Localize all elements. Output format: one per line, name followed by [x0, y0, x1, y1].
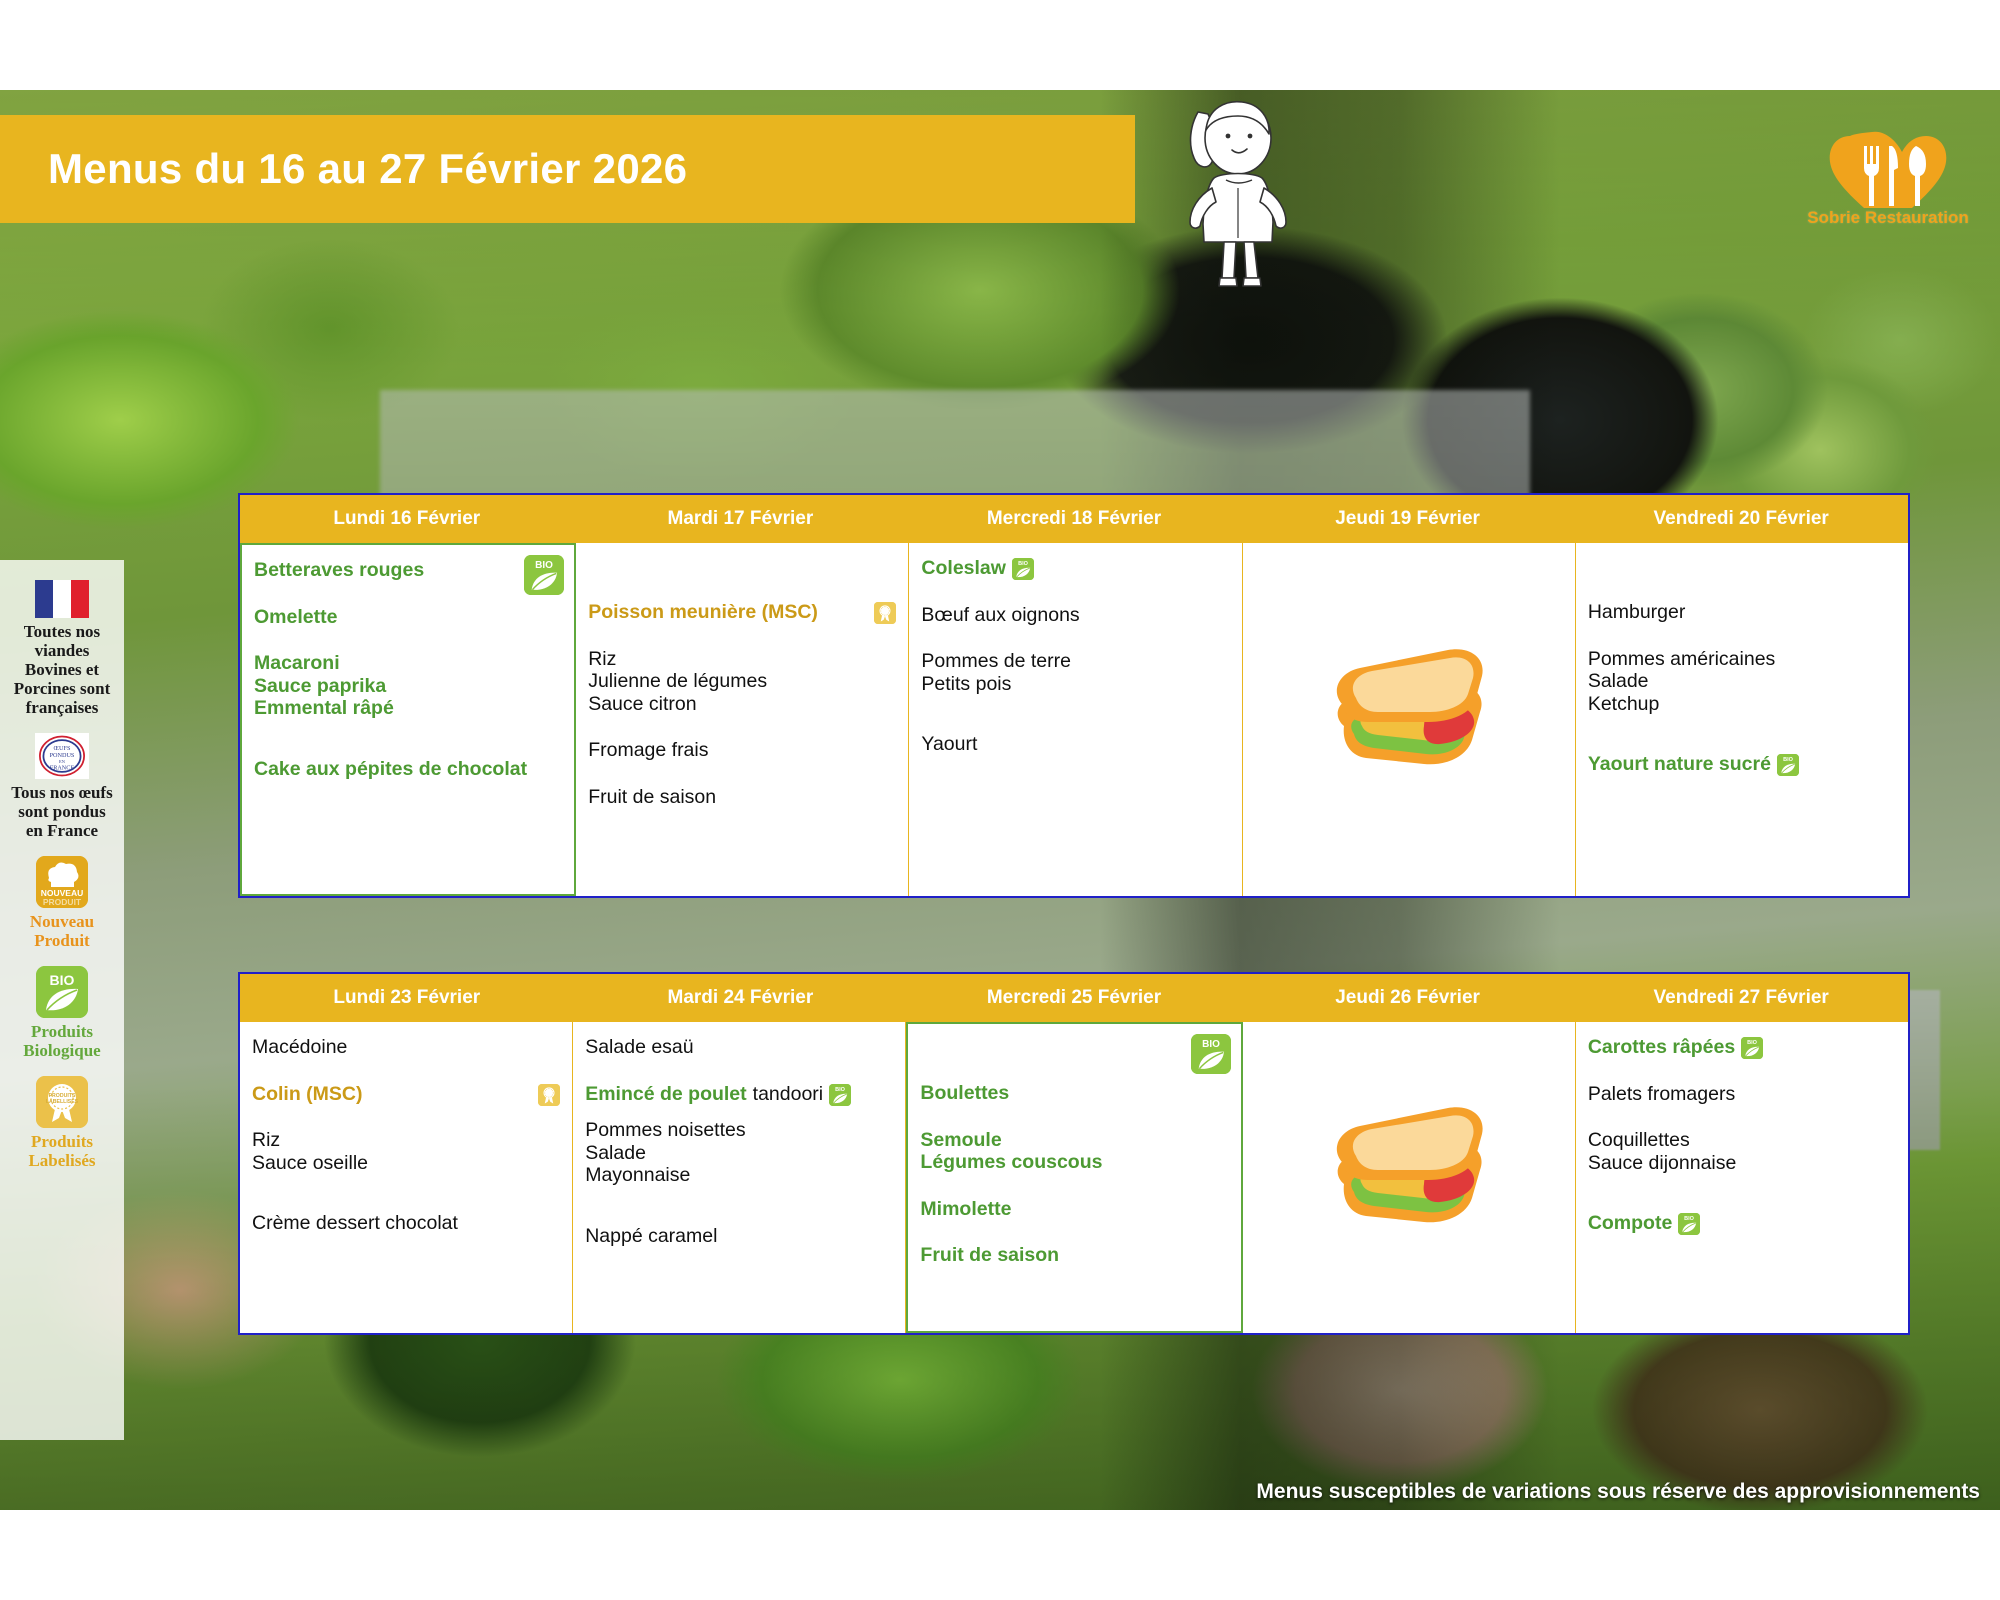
- spacer: [1588, 1059, 1896, 1083]
- menu-item: Yaourt nature sucréBIO: [1588, 753, 1896, 776]
- menu-item: Légumes couscous: [920, 1151, 1228, 1174]
- french-flag-icon: [35, 580, 89, 618]
- sidebar-caption-new-product: Nouveau Produit: [0, 908, 124, 950]
- spacer: [252, 1174, 560, 1212]
- spacer: [585, 1105, 893, 1119]
- day-column-2[interactable]: Poisson meunière (MSC)RizJulienne de lég…: [576, 543, 909, 896]
- menu-item-label: Sauce paprika: [254, 675, 386, 698]
- spacer: [1588, 624, 1896, 648]
- menu-item-label: Boulettes: [920, 1082, 1009, 1105]
- menu-item: Fromage frais: [588, 739, 896, 762]
- menu-item-label: Cake aux pépites de chocolat: [254, 758, 527, 781]
- menu-item: Julienne de légumes: [588, 670, 896, 693]
- sidebar-block-labelled: PRODUITS LABELLISÉS Produits Labelisés: [0, 1076, 124, 1170]
- menu-item: Sauce oseille: [252, 1152, 560, 1175]
- sidebar-block-new-product: NOUVEAU PRODUIT Nouveau Produit: [0, 856, 124, 950]
- menu-item-label: Riz: [588, 648, 616, 671]
- spacer: [254, 720, 562, 758]
- spacer: [588, 715, 896, 739]
- menu-item-label: Semoule: [920, 1129, 1001, 1152]
- spacer: [585, 1187, 893, 1225]
- labelled-products-badge-icon: [874, 602, 896, 624]
- menu-item-label: Salade esaü: [585, 1036, 693, 1059]
- menu-item: Bœuf aux oignons: [921, 604, 1229, 627]
- svg-text:FRANCE: FRANCE: [50, 764, 75, 771]
- menu-item: Sauce dijonnaise: [1588, 1152, 1896, 1175]
- day-column-4[interactable]: [1243, 1022, 1576, 1333]
- day-column-5[interactable]: Carottes râpéesBIOPalets fromagersCoquil…: [1576, 1022, 1908, 1333]
- menu-item: Omelette: [254, 606, 562, 629]
- menu-item: Palets fromagers: [1588, 1083, 1896, 1106]
- svg-text:BIO: BIO: [1018, 561, 1029, 567]
- day-header-1: Lundi 16 Février: [240, 495, 574, 543]
- svg-text:LABELLISÉS: LABELLISÉS: [46, 1097, 79, 1105]
- footer-disclaimer: Menus susceptibles de variations sous ré…: [1256, 1480, 1980, 1504]
- day-header-4: Jeudi 26 Février: [1241, 974, 1575, 1022]
- menu-item: Pommes noisettes: [585, 1119, 893, 1142]
- menu-item: Cake aux pépites de chocolat: [254, 758, 562, 781]
- menu-item: Mimolette: [920, 1198, 1228, 1221]
- day-column-1[interactable]: BIOBetteraves rougesOmeletteMacaroniSauc…: [240, 543, 576, 896]
- menu-item-label: Betteraves rouges: [254, 559, 424, 582]
- spacer: [1588, 715, 1896, 753]
- menu-item: Sauce citron: [588, 693, 896, 716]
- menu-item-label: Pommes américaines: [1588, 648, 1775, 671]
- menu-item-label: Coquillettes: [1588, 1129, 1690, 1152]
- menu-item-label: Yaourt nature sucré: [1588, 753, 1771, 776]
- chef-girl-illustration: [1168, 92, 1298, 292]
- spacer: [1588, 1174, 1896, 1212]
- menu-item: Nappé caramel: [585, 1225, 893, 1248]
- menu-item-label: Riz: [252, 1129, 280, 1152]
- menu-item: Coquillettes: [1588, 1129, 1896, 1152]
- menu-item-label: Bœuf aux oignons: [921, 604, 1079, 627]
- menu-item: Emincé de poulet tandooriBIO: [585, 1083, 893, 1106]
- menu-item: Hamburger: [1588, 601, 1896, 624]
- menu-item-label: Palets fromagers: [1588, 1083, 1735, 1106]
- menu-item: Betteraves rouges: [254, 559, 562, 582]
- menu-item: Boulettes: [920, 1082, 1228, 1105]
- day-header-2: Mardi 17 Février: [574, 495, 908, 543]
- day-header-5: Vendredi 20 Février: [1574, 495, 1908, 543]
- spacer: [1588, 557, 1896, 601]
- spacer: [588, 762, 896, 786]
- menu-item: Poisson meunière (MSC): [588, 601, 896, 624]
- sidebar-block-bio: BIO Produits Biologique: [0, 966, 124, 1060]
- day-column-5[interactable]: HamburgerPommes américainesSaladeKetchup…: [1576, 543, 1908, 896]
- menu-item-label: Fruit de saison: [920, 1244, 1059, 1267]
- svg-text:BIO: BIO: [50, 972, 75, 988]
- menu-item: Salade esaü: [585, 1036, 893, 1059]
- menu-item: Salade: [585, 1142, 893, 1165]
- svg-text:PRODUIT: PRODUIT: [43, 897, 82, 907]
- menu-item-label: Colin (MSC): [252, 1083, 362, 1106]
- menu-item-label: Macédoine: [252, 1036, 347, 1059]
- menu-item-label: Fruit de saison: [588, 786, 716, 809]
- menu-item: Emmental râpé: [254, 697, 562, 720]
- menu-item-label: Sauce oseille: [252, 1152, 368, 1175]
- spacer: [588, 557, 896, 601]
- day-header-3: Mercredi 25 Février: [907, 974, 1241, 1022]
- labelled-products-badge-icon: [538, 1084, 560, 1106]
- menu-item: Crème dessert chocolat: [252, 1212, 560, 1235]
- menu-item-label: Mayonnaise: [585, 1164, 690, 1187]
- menu-item-label: Nappé caramel: [585, 1225, 717, 1248]
- bio-leaf-badge-icon: BIO: [1012, 558, 1034, 580]
- menu-item-label: Mimolette: [920, 1198, 1011, 1221]
- menu-item-label: Pommes noisettes: [585, 1119, 745, 1142]
- menu-table-header-week-2: Lundi 23 FévrierMardi 24 FévrierMercredi…: [240, 974, 1908, 1022]
- menu-table-body-week-1: BIOBetteraves rougesOmeletteMacaroniSauc…: [240, 543, 1908, 896]
- new-product-badge-icon: NOUVEAU PRODUIT: [36, 856, 88, 908]
- menu-item-suffix: tandoori: [753, 1083, 823, 1106]
- menu-item-label: Sauce dijonnaise: [1588, 1152, 1737, 1175]
- spacer: [921, 580, 1229, 604]
- sidebar-caption-french-meat: Toutes nos viandes Bovines et Porcines s…: [0, 618, 124, 717]
- bio-leaf-badge-icon: BIO: [829, 1084, 851, 1106]
- menu-item-label: Légumes couscous: [920, 1151, 1102, 1174]
- menu-item-label: Macaroni: [254, 652, 340, 675]
- menu-item-label: Pommes de terre: [921, 650, 1071, 673]
- menu-item-label: Petits pois: [921, 673, 1011, 696]
- menu-item: Mayonnaise: [585, 1164, 893, 1187]
- labelled-products-badge-icon: PRODUITS LABELLISÉS: [36, 1076, 88, 1128]
- sidebar-block-french-eggs: ŒUFS PONDUS EN FRANCE Tous nos œufs sont…: [0, 733, 124, 840]
- menu-item: Fruit de saison: [588, 786, 896, 809]
- bio-leaf-badge-icon: BIO: [1191, 1034, 1231, 1074]
- menu-item: Fruit de saison: [920, 1244, 1228, 1267]
- menu-table-header-week-1: Lundi 16 FévrierMardi 17 FévrierMercredi…: [240, 495, 1908, 543]
- sandwich-icon: [1304, 630, 1514, 810]
- menu-item-label: Poisson meunière (MSC): [588, 601, 818, 624]
- sidebar-caption-labelled: Produits Labelisés: [0, 1128, 124, 1170]
- day-column-4[interactable]: [1243, 543, 1576, 896]
- menu-item: Riz: [588, 648, 896, 671]
- spacer: [920, 1220, 1228, 1244]
- eggs-laid-in-france-stamp-icon: ŒUFS PONDUS EN FRANCE: [35, 733, 89, 779]
- spacer: [920, 1105, 1228, 1129]
- menu-table-week-1: Lundi 16 FévrierMardi 17 FévrierMercredi…: [238, 493, 1910, 898]
- brand-logo: Sobrie Restauration: [1788, 110, 1988, 230]
- svg-text:EN: EN: [59, 759, 66, 764]
- svg-text:BIO: BIO: [835, 1087, 846, 1093]
- day-header-3: Mercredi 18 Février: [907, 495, 1241, 543]
- svg-text:BIO: BIO: [1202, 1039, 1220, 1050]
- menu-item-label: Salade: [1588, 670, 1649, 693]
- menu-table-week-2: Lundi 23 FévrierMardi 24 FévrierMercredi…: [238, 972, 1910, 1335]
- day-header-2: Mardi 24 Février: [574, 974, 908, 1022]
- menu-item-label: Compote: [1588, 1212, 1673, 1235]
- day-column-3[interactable]: BIOBoulettesSemouleLégumes couscousMimol…: [906, 1022, 1242, 1333]
- menu-item: Ketchup: [1588, 693, 1896, 716]
- menu-item: Yaourt: [921, 733, 1229, 756]
- menu-item-label: Emincé de poulet: [585, 1083, 746, 1106]
- day-header-4: Jeudi 19 Février: [1241, 495, 1575, 543]
- menu-item: Carottes râpéesBIO: [1588, 1036, 1896, 1059]
- spacer: [1588, 1105, 1896, 1129]
- sidebar-block-french-meat: Toutes nos viandes Bovines et Porcines s…: [0, 580, 124, 717]
- menu-item-label: Julienne de légumes: [588, 670, 767, 693]
- day-column-2[interactable]: Salade esaüEmincé de poulet tandooriBIOP…: [573, 1022, 906, 1333]
- menu-item-label: Sauce citron: [588, 693, 696, 716]
- menu-item-label: Carottes râpées: [1588, 1036, 1735, 1059]
- title-bar: Menus du 16 au 27 Février 2026: [0, 115, 1135, 223]
- menu-item: Semoule: [920, 1129, 1228, 1152]
- spacer: [920, 1038, 1228, 1082]
- menu-item: ColeslawBIO: [921, 557, 1229, 580]
- menu-item: Colin (MSC): [252, 1083, 560, 1106]
- menu-item-label: Coleslaw: [921, 557, 1006, 580]
- menu-item-label: Yaourt: [921, 733, 977, 756]
- menu-item: Pommes américaines: [1588, 648, 1896, 671]
- svg-text:PONDUS: PONDUS: [50, 752, 75, 759]
- menu-item-label: Salade: [585, 1142, 646, 1165]
- sidebar-caption-bio: Produits Biologique: [0, 1018, 124, 1060]
- spacer: [921, 626, 1229, 650]
- day-header-5: Vendredi 27 Février: [1574, 974, 1908, 1022]
- sandwich-icon: [1304, 1088, 1514, 1268]
- menu-item: Pommes de terre: [921, 650, 1229, 673]
- svg-text:BIO: BIO: [1783, 758, 1794, 764]
- bio-leaf-badge-icon: BIO: [1741, 1037, 1763, 1059]
- menu-item: Salade: [1588, 670, 1896, 693]
- menu-item-label: Ketchup: [1588, 693, 1660, 716]
- sidebar-caption-french-eggs: Tous nos œufs sont pondus en France: [0, 779, 124, 840]
- menu-item: Sauce paprika: [254, 675, 562, 698]
- spacer: [588, 624, 896, 648]
- spacer: [921, 695, 1229, 733]
- menu-item: Macédoine: [252, 1036, 560, 1059]
- day-column-1[interactable]: MacédoineColin (MSC)RizSauce oseilleCrèm…: [240, 1022, 573, 1333]
- menu-item: Macaroni: [254, 652, 562, 675]
- certification-sidebar: Toutes nos viandes Bovines et Porcines s…: [0, 560, 124, 1440]
- menu-item-label: Hamburger: [1588, 601, 1686, 624]
- spacer: [252, 1059, 560, 1083]
- svg-text:BIO: BIO: [1684, 1217, 1695, 1223]
- svg-text:BIO: BIO: [1747, 1040, 1758, 1046]
- menu-table-body-week-2: MacédoineColin (MSC)RizSauce oseilleCrèm…: [240, 1022, 1908, 1333]
- day-column-3[interactable]: ColeslawBIOBœuf aux oignonsPommes de ter…: [909, 543, 1242, 896]
- menu-item: Petits pois: [921, 673, 1229, 696]
- spacer: [254, 628, 562, 652]
- svg-text:BIO: BIO: [535, 560, 553, 571]
- bio-leaf-badge-icon: BIO: [524, 555, 564, 595]
- bio-leaf-badge-icon: BIO: [1777, 754, 1799, 776]
- bottom-margin: [0, 1510, 2000, 1600]
- spacer: [585, 1059, 893, 1083]
- svg-text:ŒUFS: ŒUFS: [54, 745, 71, 752]
- menu-poster: Menus du 16 au 27 Février 2026: [0, 0, 2000, 1600]
- bio-leaf-badge-icon: BIO: [1678, 1213, 1700, 1235]
- menu-item: CompoteBIO: [1588, 1212, 1896, 1235]
- page-title: Menus du 16 au 27 Février 2026: [48, 145, 687, 193]
- bio-leaf-badge-icon: BIO: [36, 966, 88, 1018]
- menu-item-label: Crème dessert chocolat: [252, 1212, 458, 1235]
- spacer: [920, 1174, 1228, 1198]
- spacer: [254, 582, 562, 606]
- day-header-1: Lundi 23 Février: [240, 974, 574, 1022]
- logo-text: Sobrie Restauration: [1788, 208, 1988, 228]
- menu-item-label: Emmental râpé: [254, 697, 394, 720]
- menu-item-label: Fromage frais: [588, 739, 708, 762]
- spacer: [252, 1105, 560, 1129]
- menu-item-label: Omelette: [254, 606, 337, 629]
- menu-item: Riz: [252, 1129, 560, 1152]
